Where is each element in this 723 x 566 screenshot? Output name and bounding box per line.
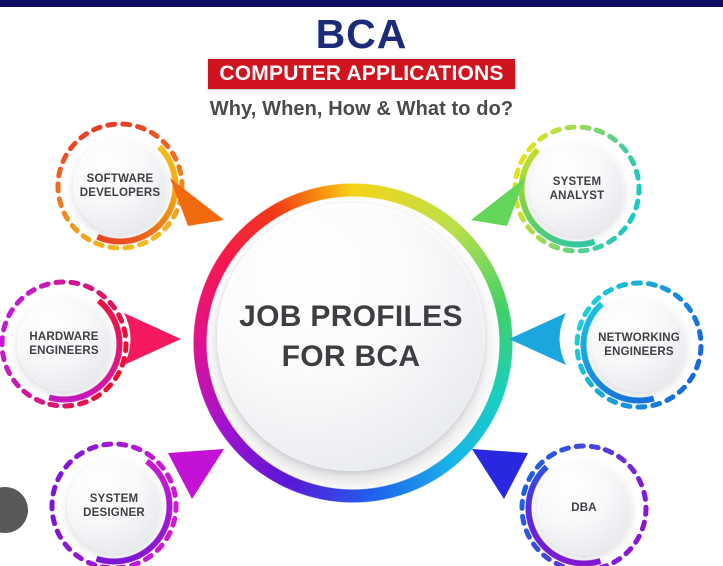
arrow-top-left-icon [168, 176, 228, 228]
node-label-line1: SOFTWARE [87, 172, 154, 186]
node-system-analyst[interactable]: SYSTEM ANALYST [518, 130, 636, 248]
node-label-line2: DESIGNER [83, 506, 145, 520]
edge-overlay-dot [0, 487, 28, 533]
arrow-middle-right-icon [507, 311, 569, 367]
arrow-top-right-icon [467, 176, 527, 228]
node-label-line2: DEVELOPERS [80, 186, 161, 200]
node-software-developers[interactable]: SOFTWARE DEVELOPERS [61, 127, 179, 245]
node-label-line2: ENGINEERS [604, 345, 674, 359]
node-label-line2: ENGINEERS [29, 344, 99, 358]
infographic-canvas: BCA COMPUTER APPLICATIONS Why, When, How… [0, 0, 723, 566]
node-label: DBA [534, 461, 634, 555]
node-label: HARDWARE ENGINEERS [14, 297, 114, 391]
node-label: SYSTEM ANALYST [527, 142, 627, 236]
node-label-line1: NETWORKING [598, 331, 680, 345]
node-dba[interactable]: DBA [525, 449, 643, 566]
node-label-line1: HARDWARE [29, 330, 98, 344]
central-hub: JOB PROFILES FOR BCA [193, 183, 513, 503]
node-label-line2: ANALYST [550, 189, 605, 203]
node-label-line1: DBA [571, 501, 597, 515]
hub-label-line2: FOR BCA [282, 337, 421, 377]
page-title: BCA [0, 13, 723, 56]
arrow-bottom-left-icon [166, 447, 228, 501]
node-label: SYSTEM DESIGNER [64, 459, 164, 553]
node-hardware-engineers[interactable]: HARDWARE ENGINEERS [5, 285, 123, 403]
arrow-middle-left-icon [121, 311, 183, 367]
brand-band-wrapper: COMPUTER APPLICATIONS [0, 59, 723, 89]
top-navy-bar [0, 0, 723, 7]
arrow-bottom-right-icon [468, 447, 530, 501]
hub-label: JOB PROFILES FOR BCA [217, 203, 485, 471]
node-system-designer[interactable]: SYSTEM DESIGNER [55, 447, 173, 565]
node-networking-engineers[interactable]: NETWORKING ENGINEERS [580, 286, 698, 404]
header-block: BCA COMPUTER APPLICATIONS Why, When, How… [0, 7, 723, 121]
hub-label-line1: JOB PROFILES [239, 297, 463, 337]
tagline: Why, When, How & What to do? [0, 98, 723, 121]
node-label: NETWORKING ENGINEERS [589, 298, 689, 392]
brand-subtitle-band: COMPUTER APPLICATIONS [208, 59, 514, 89]
node-label-line1: SYSTEM [90, 492, 139, 506]
node-label-line1: SYSTEM [553, 175, 602, 189]
node-label: SOFTWARE DEVELOPERS [70, 139, 170, 233]
